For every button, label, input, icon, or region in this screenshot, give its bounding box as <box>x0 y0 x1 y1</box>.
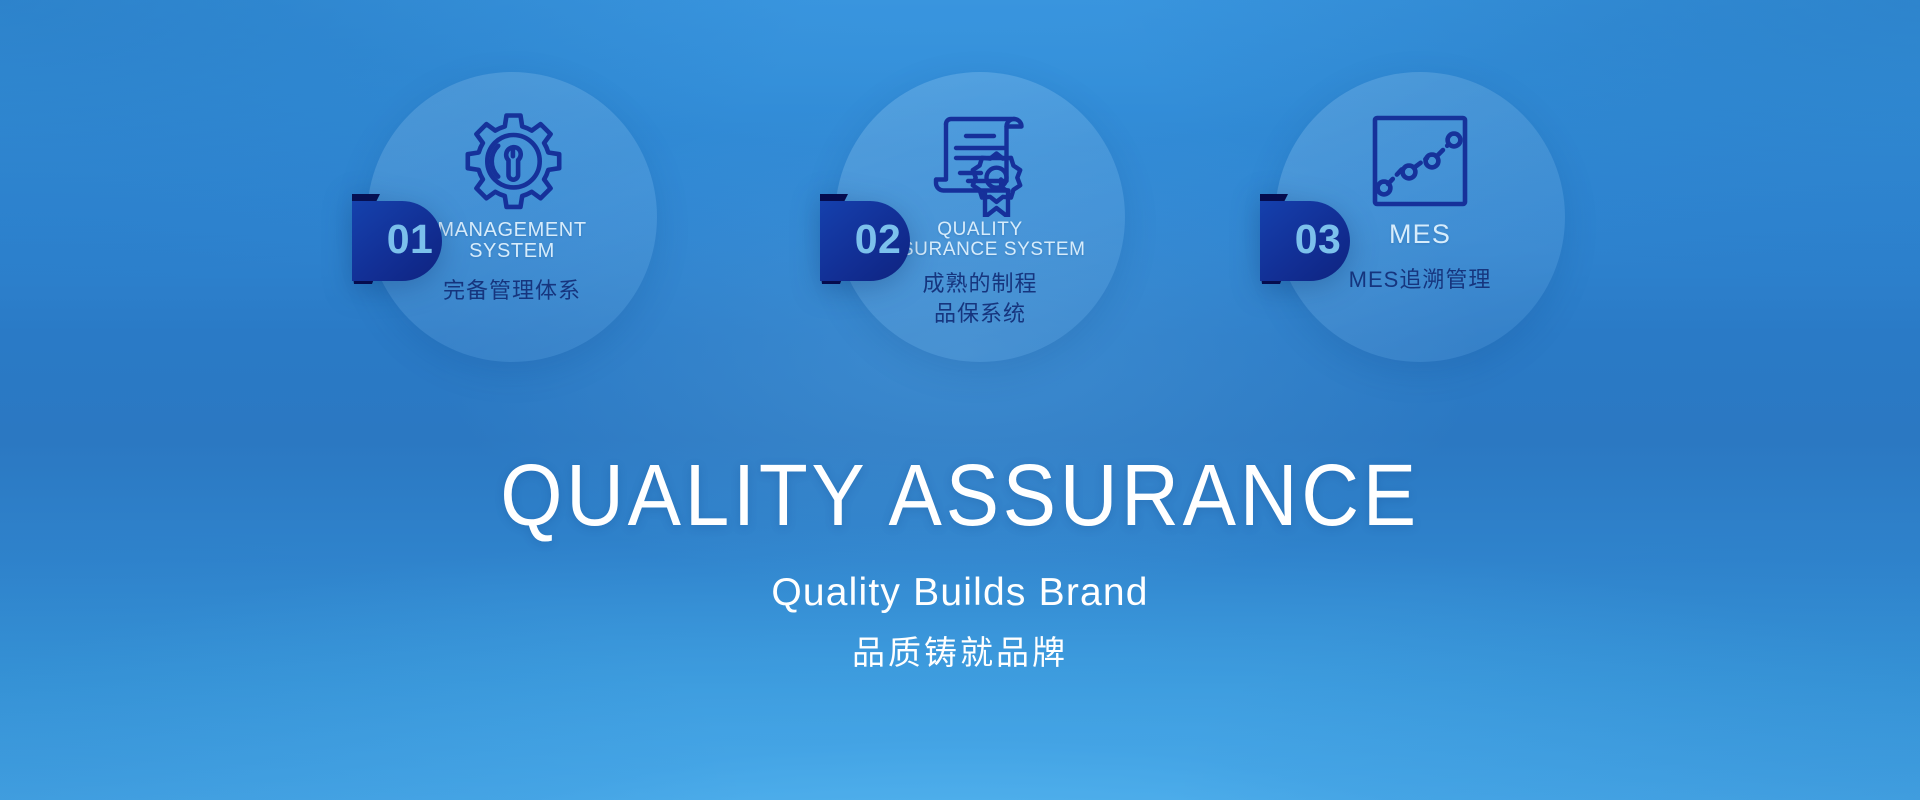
feature-cards-row: MANAGEMENT SYSTEM 完备管理体系 0 <box>0 72 1920 442</box>
card-en-label: MES <box>1389 220 1451 248</box>
card-cn-label: 成熟的制程 品保系统 <box>922 269 1037 328</box>
page-title: QUALITY ASSURANCE <box>77 452 1843 539</box>
card-number-badge[interactable]: 01 <box>344 180 462 298</box>
subtitle-english: Quality Builds Brand <box>0 573 1920 612</box>
line-chart-icon <box>1370 102 1470 220</box>
feature-card-mes[interactable]: MES MES追溯管理 03 <box>1270 72 1570 440</box>
feature-card-quality-assurance-system[interactable]: QUALITY ASSURANCE SYSTEM 成熟的制程 品保系统 <box>830 72 1130 440</box>
card-cn-label: 完备管理体系 <box>443 276 581 306</box>
headline-block: QUALITY ASSURANCE Quality Builds Brand 品… <box>0 452 1920 669</box>
subtitle-chinese: 品质铸就品牌 <box>0 636 1920 669</box>
gear-wrench-icon <box>459 102 565 220</box>
certificate-seal-icon <box>924 102 1036 220</box>
quality-assurance-banner: MANAGEMENT SYSTEM 完备管理体系 0 <box>0 0 1920 800</box>
card-number-text: 03 <box>1252 180 1370 298</box>
card-number-text: 02 <box>812 180 930 298</box>
feature-card-management-system[interactable]: MANAGEMENT SYSTEM 完备管理体系 0 <box>362 72 662 440</box>
card-number-badge[interactable]: 02 <box>812 180 930 298</box>
card-number-badge[interactable]: 03 <box>1252 180 1370 298</box>
card-cn-label: MES追溯管理 <box>1349 265 1492 295</box>
card-number-text: 01 <box>344 180 462 298</box>
